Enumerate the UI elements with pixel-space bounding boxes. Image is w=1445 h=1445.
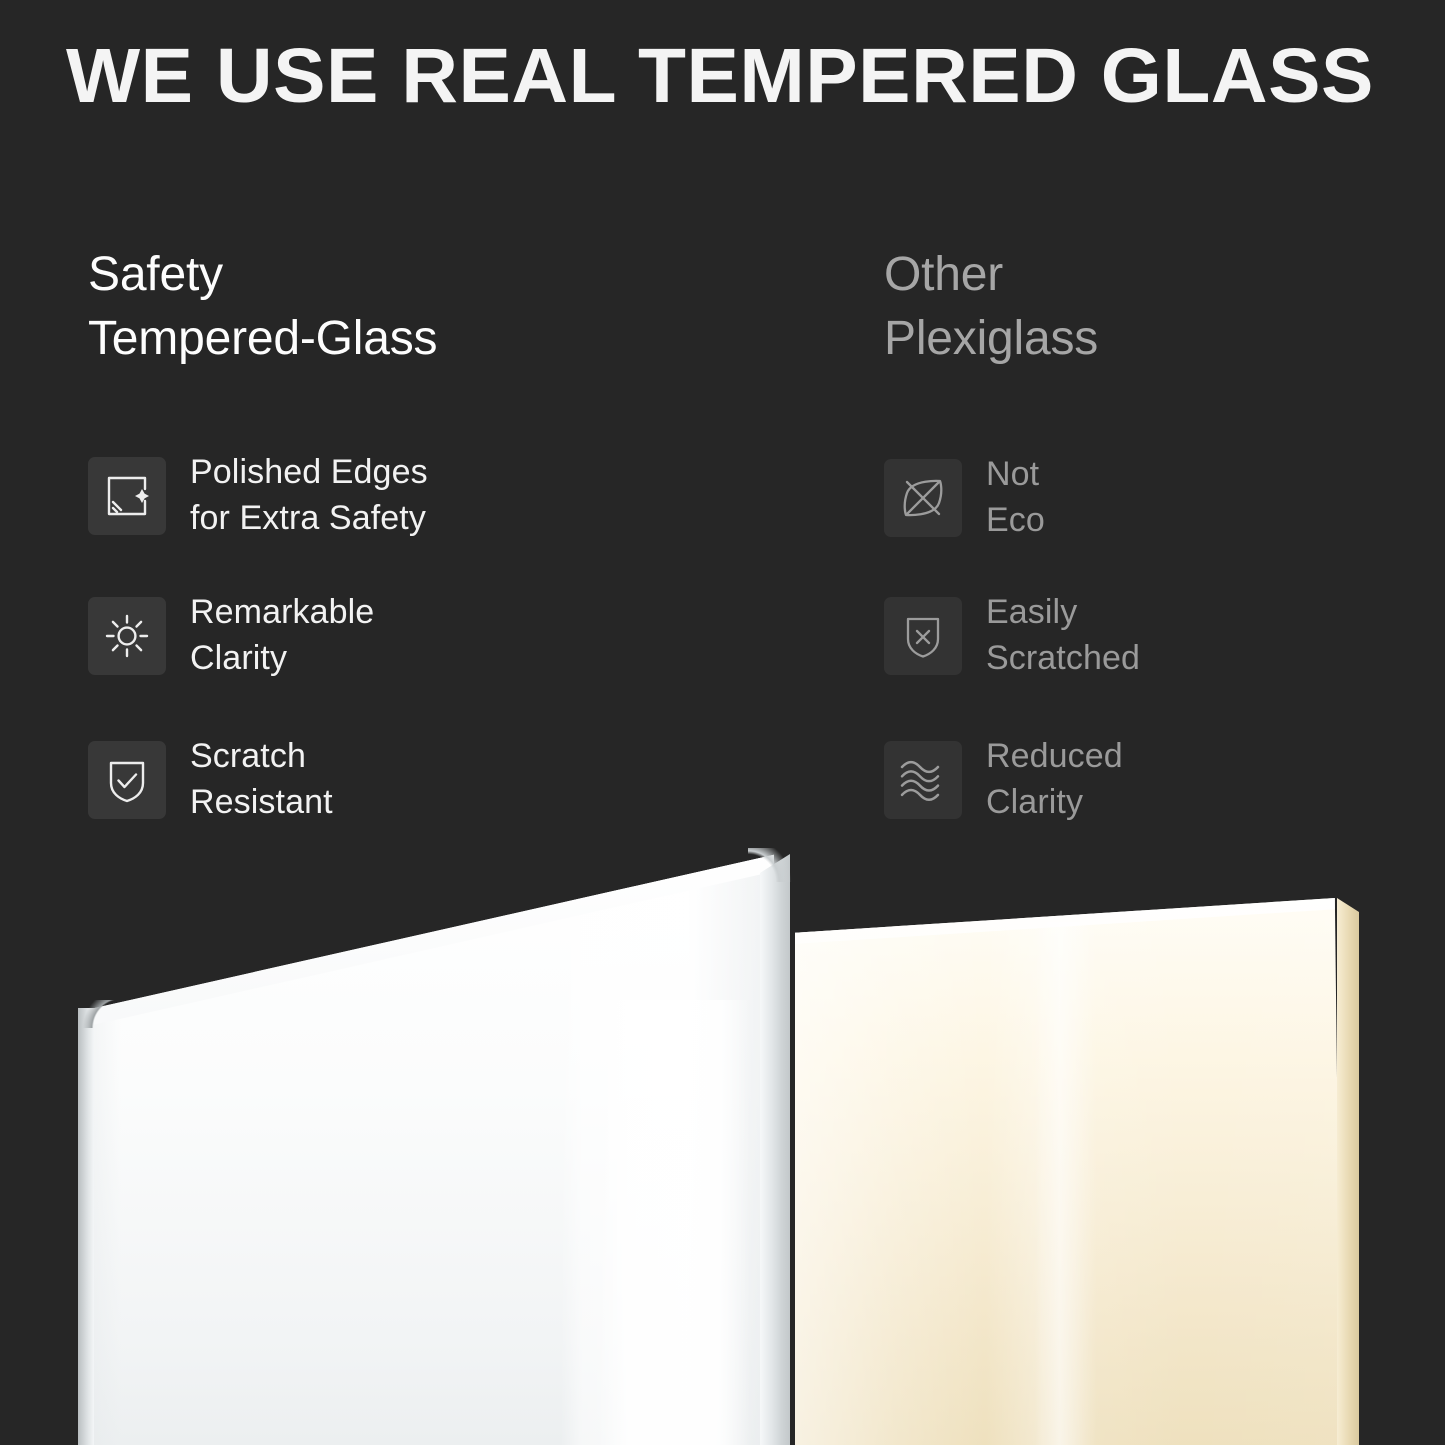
feature-item-remarkable-clarity: Remarkable Clarity bbox=[88, 590, 374, 681]
feature-item-easily-scratched: Easily Scratched bbox=[884, 590, 1140, 681]
tempered-glass-corner-top-right bbox=[748, 848, 792, 882]
product-comparison-image bbox=[0, 830, 1445, 1445]
feature-label: Not Eco bbox=[986, 452, 1045, 543]
feature-item-not-eco: Not Eco bbox=[884, 452, 1045, 543]
shield-x-icon bbox=[884, 597, 962, 675]
tempered-glass-right-edge bbox=[760, 854, 790, 1445]
column-heading-line1: Other bbox=[884, 243, 1098, 307]
feature-item-scratch-resistant: Scratch Resistant bbox=[88, 734, 333, 825]
tempered-glass-left-edge bbox=[78, 1008, 94, 1445]
feature-label: Reduced Clarity bbox=[986, 734, 1123, 825]
polished-glass-pane-icon bbox=[88, 457, 166, 535]
column-heading-line2: Plexiglass bbox=[884, 307, 1098, 371]
column-heading-line1: Safety bbox=[88, 243, 437, 307]
wavy-lines-icon bbox=[884, 741, 962, 819]
comparison-infographic: WE USE REAL TEMPERED GLASS Safety Temper… bbox=[0, 0, 1445, 1445]
shield-check-icon bbox=[88, 741, 166, 819]
plexiglass-right-edge bbox=[1337, 898, 1359, 1445]
sun-brightness-icon bbox=[88, 597, 166, 675]
column-heading-other-plexiglass: Other Plexiglass bbox=[884, 243, 1098, 371]
plexiglass-reflection bbox=[1035, 922, 1097, 1445]
tempered-glass-reflection bbox=[598, 1000, 750, 1445]
page-title: WE USE REAL TEMPERED GLASS bbox=[66, 38, 1433, 115]
feature-label: Remarkable Clarity bbox=[190, 590, 374, 681]
column-heading-safety-tempered-glass: Safety Tempered-Glass bbox=[88, 243, 437, 371]
column-heading-line2: Tempered-Glass bbox=[88, 307, 437, 371]
feature-label: Polished Edges for Extra Safety bbox=[190, 450, 428, 541]
leaf-slash-icon bbox=[884, 459, 962, 537]
feature-item-reduced-clarity: Reduced Clarity bbox=[884, 734, 1123, 825]
feature-item-polished-edges: Polished Edges for Extra Safety bbox=[88, 450, 428, 541]
feature-label: Scratch Resistant bbox=[190, 734, 333, 825]
tempered-glass-corner-top-left bbox=[78, 1000, 122, 1028]
feature-label: Easily Scratched bbox=[986, 590, 1140, 681]
